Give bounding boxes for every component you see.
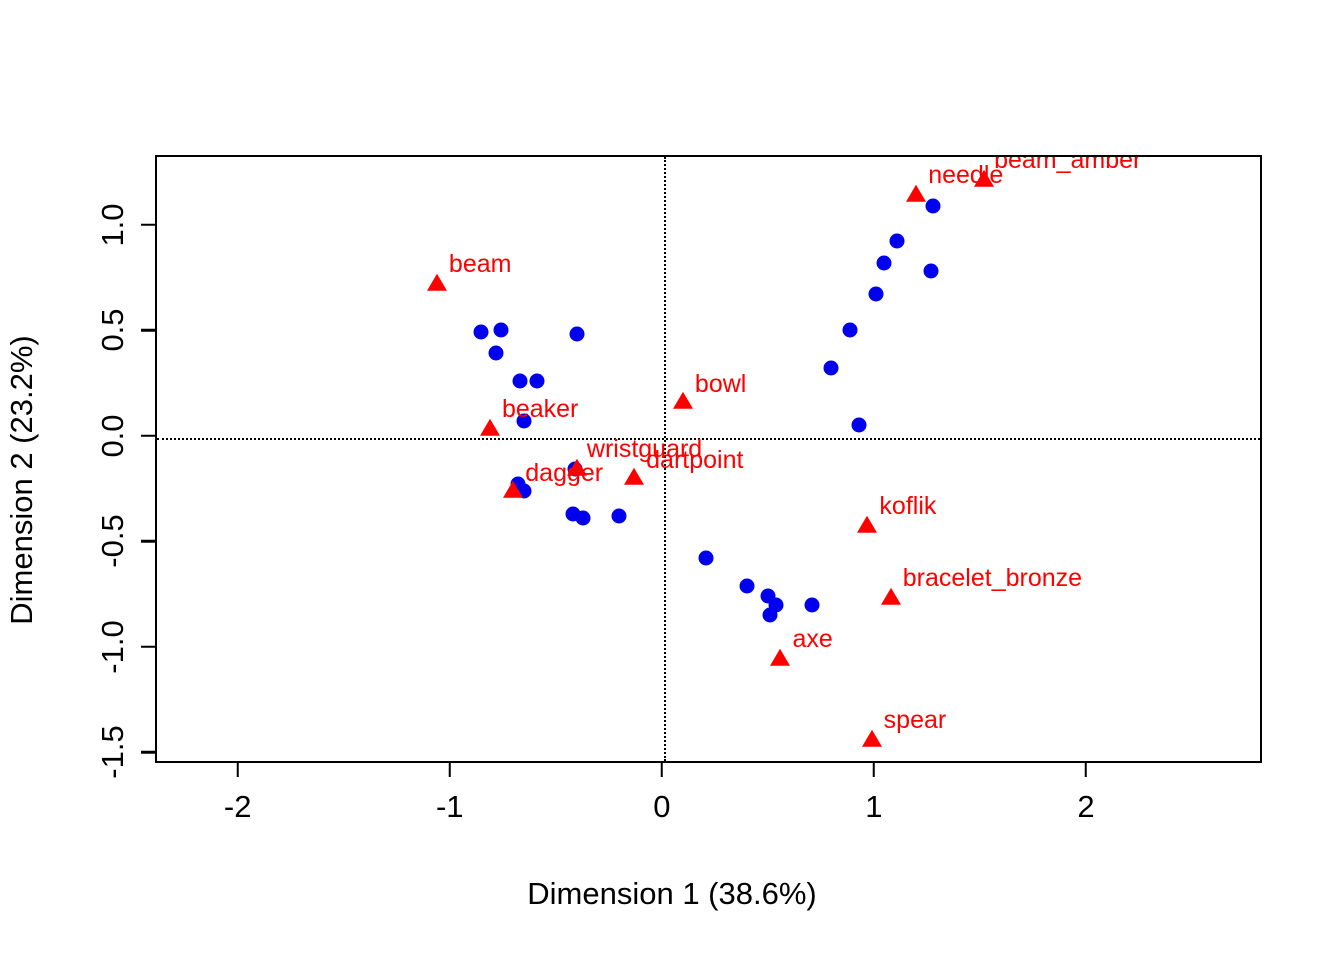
row-point-marker xyxy=(474,325,489,340)
x-tick-label: -2 xyxy=(224,789,252,825)
y-tick-label: 1.0 xyxy=(95,203,131,246)
y-tick-label: -1.5 xyxy=(95,726,131,779)
point-label: dartpoint xyxy=(646,448,743,473)
plot-area: beambeakerdaggerwristguarddartpointbowla… xyxy=(157,157,1260,761)
x-tick-mark xyxy=(1085,763,1088,777)
point-label: bowl xyxy=(695,372,746,397)
row-point-marker xyxy=(877,255,892,270)
row-point-marker xyxy=(805,597,820,612)
plot-frame: beambeakerdaggerwristguarddartpointbowla… xyxy=(155,155,1262,763)
column-point-marker xyxy=(974,170,994,187)
row-point-marker xyxy=(851,418,866,433)
row-point-marker xyxy=(924,264,939,279)
column-point-marker xyxy=(862,729,882,746)
row-point-marker xyxy=(739,578,754,593)
row-point-marker xyxy=(529,373,544,388)
horizontal-reference-line xyxy=(157,438,1260,440)
x-tick-label: 1 xyxy=(865,789,882,825)
x-tick-mark xyxy=(873,763,876,777)
row-point-marker xyxy=(512,373,527,388)
point-label: beaker xyxy=(502,397,578,422)
row-point-marker xyxy=(569,327,584,342)
y-tick-mark xyxy=(141,751,155,754)
row-point-marker xyxy=(493,323,508,338)
column-point-marker xyxy=(480,419,500,436)
row-point-marker xyxy=(868,287,883,302)
point-label: beam xyxy=(449,252,512,277)
x-axis-title: Dimension 1 (38.6%) xyxy=(0,876,1344,912)
x-tick-mark xyxy=(661,763,664,777)
y-tick-mark xyxy=(141,646,155,649)
x-tick-mark xyxy=(449,763,452,777)
column-point-marker xyxy=(857,516,877,533)
y-tick-label: 0.5 xyxy=(95,309,131,352)
y-tick-mark xyxy=(141,223,155,226)
point-label: dagger xyxy=(525,461,603,486)
x-tick-label: -1 xyxy=(436,789,464,825)
y-tick-mark xyxy=(141,540,155,543)
chart-canvas: beambeakerdaggerwristguarddartpointbowla… xyxy=(0,0,1344,960)
column-point-marker xyxy=(881,588,901,605)
point-label: beam_amber xyxy=(994,157,1141,173)
column-point-marker xyxy=(673,392,693,409)
row-point-marker xyxy=(762,608,777,623)
y-tick-mark xyxy=(141,329,155,332)
column-point-marker xyxy=(624,468,644,485)
y-tick-label: 0.0 xyxy=(95,414,131,457)
row-point-marker xyxy=(576,511,591,526)
x-tick-label: 2 xyxy=(1077,789,1094,825)
row-point-marker xyxy=(890,234,905,249)
row-point-marker xyxy=(926,198,941,213)
column-point-marker xyxy=(427,273,447,290)
column-point-marker xyxy=(503,480,523,497)
y-tick-label: -1.0 xyxy=(95,620,131,673)
x-tick-label: 0 xyxy=(653,789,670,825)
x-tick-mark xyxy=(236,763,239,777)
point-label: spear xyxy=(884,708,947,733)
row-point-marker xyxy=(824,361,839,376)
row-point-marker xyxy=(489,346,504,361)
point-label: axe xyxy=(792,627,832,652)
y-tick-label: -0.5 xyxy=(95,515,131,568)
column-point-marker xyxy=(770,649,790,666)
row-point-marker xyxy=(699,551,714,566)
row-point-marker xyxy=(612,508,627,523)
y-axis-title: Dimension 2 (23.2%) xyxy=(0,0,44,960)
y-tick-mark xyxy=(141,435,155,438)
column-point-marker xyxy=(567,459,587,476)
point-label: koflik xyxy=(879,494,936,519)
column-point-marker xyxy=(906,185,926,202)
row-point-marker xyxy=(843,323,858,338)
point-label: bracelet_bronze xyxy=(903,566,1082,591)
